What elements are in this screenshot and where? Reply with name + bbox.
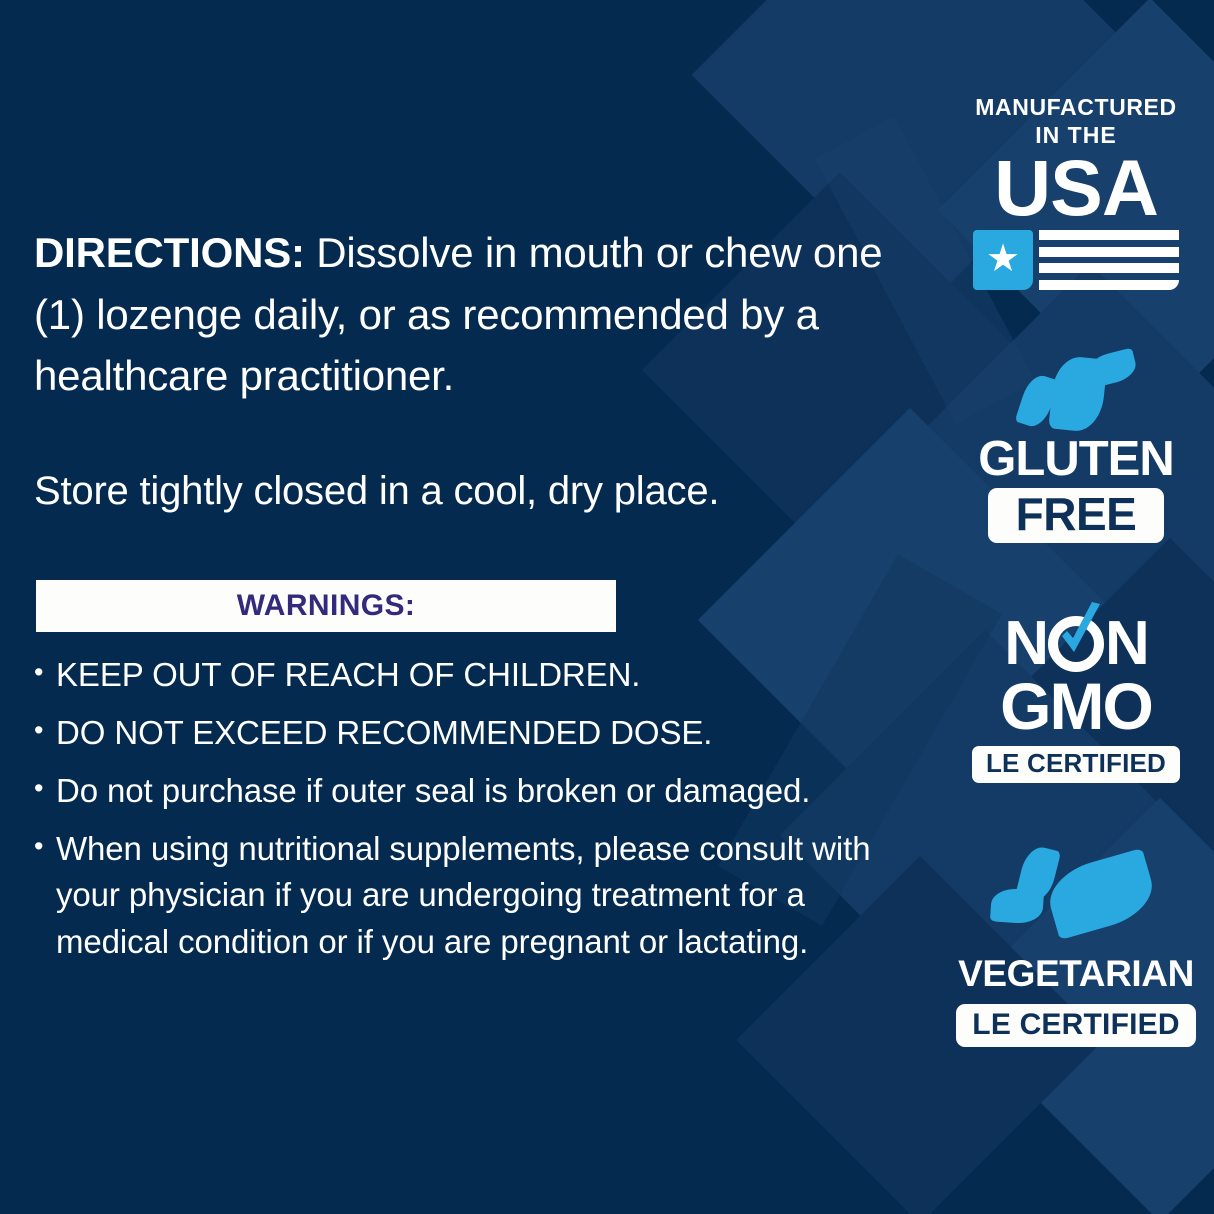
gluten-free-box: FREE [988,488,1165,543]
gluten-free-line2: FREE [1016,490,1137,538]
directions-heading: DIRECTIONS: [34,229,305,276]
vegetarian-label: VEGETARIAN [958,955,1194,992]
flag-stripe [1039,280,1179,290]
list-item: • DO NOT EXCEED RECOMMENDED DOSE. [34,710,884,757]
supplement-label-panel: DIRECTIONS: Dissolve in mouth or chew on… [0,0,1214,1214]
non-gmo-n-right: N [1105,613,1148,675]
warning-text: Do not purchase if outer seal is broken … [56,768,884,815]
instructions-column: DIRECTIONS: Dissolve in mouth or chew on… [34,222,889,519]
star-icon: ★ [986,240,1020,278]
bullet-icon: • [34,768,56,815]
badge-manufactured-in-usa: MANUFACTURED IN THE USA ★ [956,96,1196,291]
bullet-icon: • [34,652,56,699]
warning-text: When using nutritional supplements, plea… [56,826,884,967]
non-gmo-line2: GMO [1000,673,1152,739]
usa-line1: MANUFACTURED [975,96,1176,119]
badge-gluten-free: GLUTEN FREE [956,353,1196,543]
directions-paragraph: DIRECTIONS: Dissolve in mouth or chew on… [34,222,889,407]
badge-non-gmo: N N GMO LE CERTIFIED [956,613,1196,783]
three-leaves-icon [991,847,1161,939]
storage-instruction: Store tightly closed in a cool, dry plac… [34,463,889,519]
non-gmo-certification-label: LE CERTIFIED [986,749,1166,778]
list-item: • Do not purchase if outer seal is broke… [34,768,884,815]
flag-stripe [1039,230,1179,240]
certification-badge-column: MANUFACTURED IN THE USA ★ [956,96,1196,1047]
warnings-banner-label: WARNINGS: [237,589,416,623]
non-gmo-certification-box: LE CERTIFIED [972,746,1180,783]
warnings-list: • KEEP OUT OF REACH OF CHILDREN. • DO NO… [34,652,884,977]
leaf-shape [1085,348,1139,389]
vegetarian-certification-box: LE CERTIFIED [956,1004,1195,1047]
bullet-icon: • [34,710,56,757]
list-item: • When using nutritional supplements, pl… [34,826,884,967]
non-gmo-n-left: N [1004,613,1047,675]
check-glyph [1054,602,1106,664]
vegetarian-certification-label: LE CERTIFIED [972,1008,1179,1041]
flag-canton: ★ [973,230,1033,290]
non-gmo-line1: N N [1004,613,1148,675]
leaf-shape [1042,848,1160,940]
warning-text: DO NOT EXCEED RECOMMENDED DOSE. [56,710,884,757]
warnings-banner: WARNINGS: [36,580,616,632]
bullet-icon: • [34,826,56,967]
wheat-leaf-icon [1016,353,1136,429]
badge-vegetarian: VEGETARIAN LE CERTIFIED [956,847,1196,1047]
flag-stripes [1039,230,1179,290]
usa-flag-icon: ★ [973,230,1179,291]
list-item: • KEEP OUT OF REACH OF CHILDREN. [34,652,884,699]
usa-line3: USA [994,150,1158,225]
flag-stripe [1039,247,1179,257]
gluten-free-line1: GLUTEN [978,435,1173,484]
flag-stripe [1039,263,1179,273]
warning-text: KEEP OUT OF REACH OF CHILDREN. [56,652,884,699]
leaf-shape [990,887,1044,925]
checkmark-icon [1048,616,1104,672]
